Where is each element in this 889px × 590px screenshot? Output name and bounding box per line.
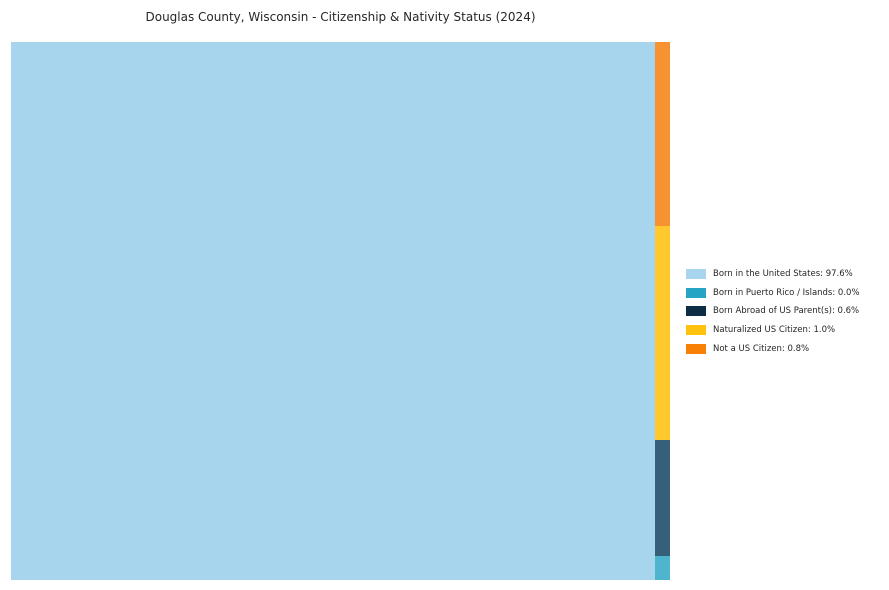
treemap-tile-born-in-puerto-rico-islands[interactable] [655,556,670,580]
treemap-tile-naturalized-us-citizen[interactable] [655,226,670,440]
legend-item-not-a-us-citizen[interactable]: Not a US Citizen: 0.8% [686,339,882,358]
page-title: Douglas County, Wisconsin - Citizenship … [0,9,681,25]
legend-swatch-icon [686,288,706,298]
legend-item-label: Naturalized US Citizen: 1.0% [713,325,835,335]
legend-item-born-in-the-united-states[interactable]: Born in the United States: 97.6% [686,265,882,284]
legend-item-label: Not a US Citizen: 0.8% [713,344,809,354]
legend-swatch-icon [686,269,706,279]
treemap-tile-born-abroad-of-us-parents[interactable] [655,440,670,556]
legend-swatch-icon [686,344,706,354]
legend-item-label: Born in Puerto Rico / Islands: 0.0% [713,288,860,298]
legend-item-born-abroad-of-us-parents[interactable]: Born Abroad of US Parent(s): 0.6% [686,302,882,321]
treemap-tile-born-in-the-united-states[interactable] [11,42,655,580]
legend-swatch-icon [686,325,706,335]
legend-swatch-icon [686,306,706,316]
treemap-tile-not-a-us-citizen[interactable] [655,42,670,226]
legend-item-born-in-puerto-rico-islands[interactable]: Born in Puerto Rico / Islands: 0.0% [686,284,882,303]
legend-item-label: Born in the United States: 97.6% [713,269,853,279]
chart-legend: Born in the United States: 97.6% Born in… [686,265,882,358]
treemap-plot-area [11,42,670,580]
legend-item-label: Born Abroad of US Parent(s): 0.6% [713,306,859,316]
legend-item-naturalized-us-citizen[interactable]: Naturalized US Citizen: 1.0% [686,321,882,340]
